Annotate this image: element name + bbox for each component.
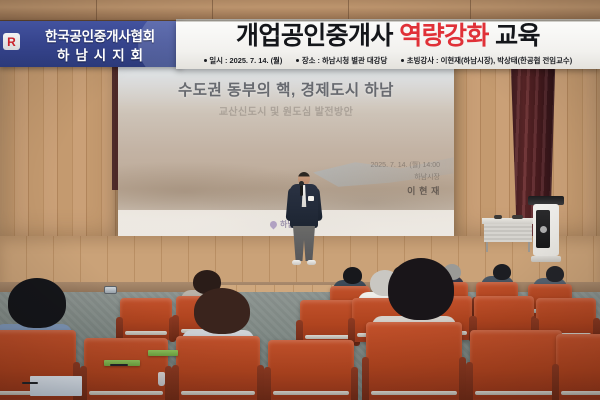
auditorium-seat — [470, 330, 562, 400]
seat-armrest — [257, 365, 264, 400]
association-name: 한국공인중개사협회 — [24, 25, 176, 45]
podium — [528, 196, 564, 266]
water-bottle — [158, 372, 165, 386]
table-object — [512, 215, 523, 219]
event-details: 일시 : 2025. 7. 14. (월)장소 : 하남시청 별관 대강당초빙강… — [176, 55, 600, 66]
photo-scene: 자연과 도시 그리고 하남 수도권 동부의 핵, 경제도시 하남 교산신도시 및… — [0, 0, 600, 400]
slide-meta-role: 하남시장 — [371, 172, 441, 184]
seat-armrest — [351, 367, 358, 400]
table-skirt — [484, 224, 532, 242]
presenter-name-badge — [308, 196, 314, 201]
event-headline-part2: 교육 — [489, 22, 540, 50]
table-leg — [486, 242, 488, 252]
seat-tablet-arm — [181, 391, 255, 395]
podium-base — [531, 256, 561, 262]
microphone-icon — [300, 184, 303, 196]
side-table — [482, 218, 534, 252]
seat-tablet-arm — [273, 391, 349, 395]
slide-meta-speaker: 이 현 재 — [371, 184, 441, 200]
association-banner: R 한국공인중개사협회 하남시지회 — [0, 21, 182, 67]
banner-group: R 한국공인중개사협회 하남시지회 개업공인중개사 역량강화 교육 일시 : 2… — [0, 21, 600, 69]
presenter-trousers — [293, 226, 315, 261]
audience-member-head — [8, 278, 66, 328]
seat-armrest — [172, 365, 179, 400]
event-detail-text: 초빙강사 : 이현재(하남시장), 박상태(한공협 전임교수) — [407, 55, 572, 66]
slide-title: 수도권 동부의 핵, 경제도시 하남 — [118, 78, 454, 100]
event-headline-accent: 역량강화 — [399, 22, 489, 50]
event-banner: 개업공인중개사 역량강화 교육 일시 : 2025. 7. 14. (월)장소 … — [176, 21, 600, 69]
audience-phone-camera — [104, 286, 117, 294]
association-branch: 하남시지회 — [24, 44, 176, 64]
wall-panel-left — [0, 38, 118, 256]
event-detail-text: 일시 : 2025. 7. 14. (월) — [209, 55, 282, 66]
auditorium-seat — [366, 322, 462, 400]
seat-tablet-arm — [475, 391, 557, 395]
slide-meta-datetime: 2025. 7. 14. (월) 14:00 — [371, 160, 441, 172]
seat-tablet-arm — [561, 391, 600, 395]
seat-tablet-arm — [125, 331, 167, 335]
event-headline: 개업공인중개사 역량강화 교육 — [176, 23, 600, 51]
presenter — [286, 172, 322, 268]
seat-armrest — [165, 366, 172, 400]
audience-member-head — [388, 258, 454, 320]
event-detail-item: 장소 : 하남시청 별관 대강당 — [296, 55, 387, 66]
bullet-dot-icon — [204, 59, 207, 62]
audience-member-head — [493, 264, 511, 280]
bullet-dot-icon — [401, 59, 404, 62]
event-detail-item: 일시 : 2025. 7. 14. (월) — [204, 55, 282, 66]
pen — [22, 382, 38, 384]
audience-member-head — [194, 288, 250, 334]
seat-armrest — [552, 364, 559, 400]
slide-meta-block: 2025. 7. 14. (월) 14:00 하남시장 이 현 재 — [371, 160, 441, 200]
presenter-shoe-right — [307, 260, 316, 265]
seat-tablet-arm — [305, 335, 351, 339]
presenter-shoe-left — [292, 260, 301, 265]
seat-armrest — [466, 362, 473, 400]
green-booklet — [148, 350, 178, 356]
audience-member-head — [343, 267, 362, 284]
slide-subtitle: 교산신도시 및 원도심 발전방안 — [118, 103, 454, 118]
audience-member-head — [546, 266, 564, 282]
seat-tablet-arm — [89, 391, 163, 395]
event-detail-text: 장소 : 하남시청 별관 대강당 — [302, 55, 387, 66]
event-detail-item: 초빙강사 : 이현재(하남시장), 박상태(한공협 전임교수) — [401, 55, 572, 66]
pen — [110, 364, 128, 366]
bullet-dot-icon — [296, 59, 299, 62]
table-object — [494, 215, 502, 219]
podium-emblem-icon — [540, 226, 547, 233]
city-logo-mark-icon — [269, 220, 279, 230]
event-headline-part1: 개업공인중개사 — [236, 22, 399, 50]
seat-tablet-arm — [371, 391, 457, 395]
seat-armrest — [459, 357, 466, 400]
handout-papers — [30, 376, 82, 396]
seat-armrest — [264, 367, 271, 400]
seat-armrest — [362, 357, 369, 400]
association-r-logo-icon: R — [3, 33, 20, 50]
